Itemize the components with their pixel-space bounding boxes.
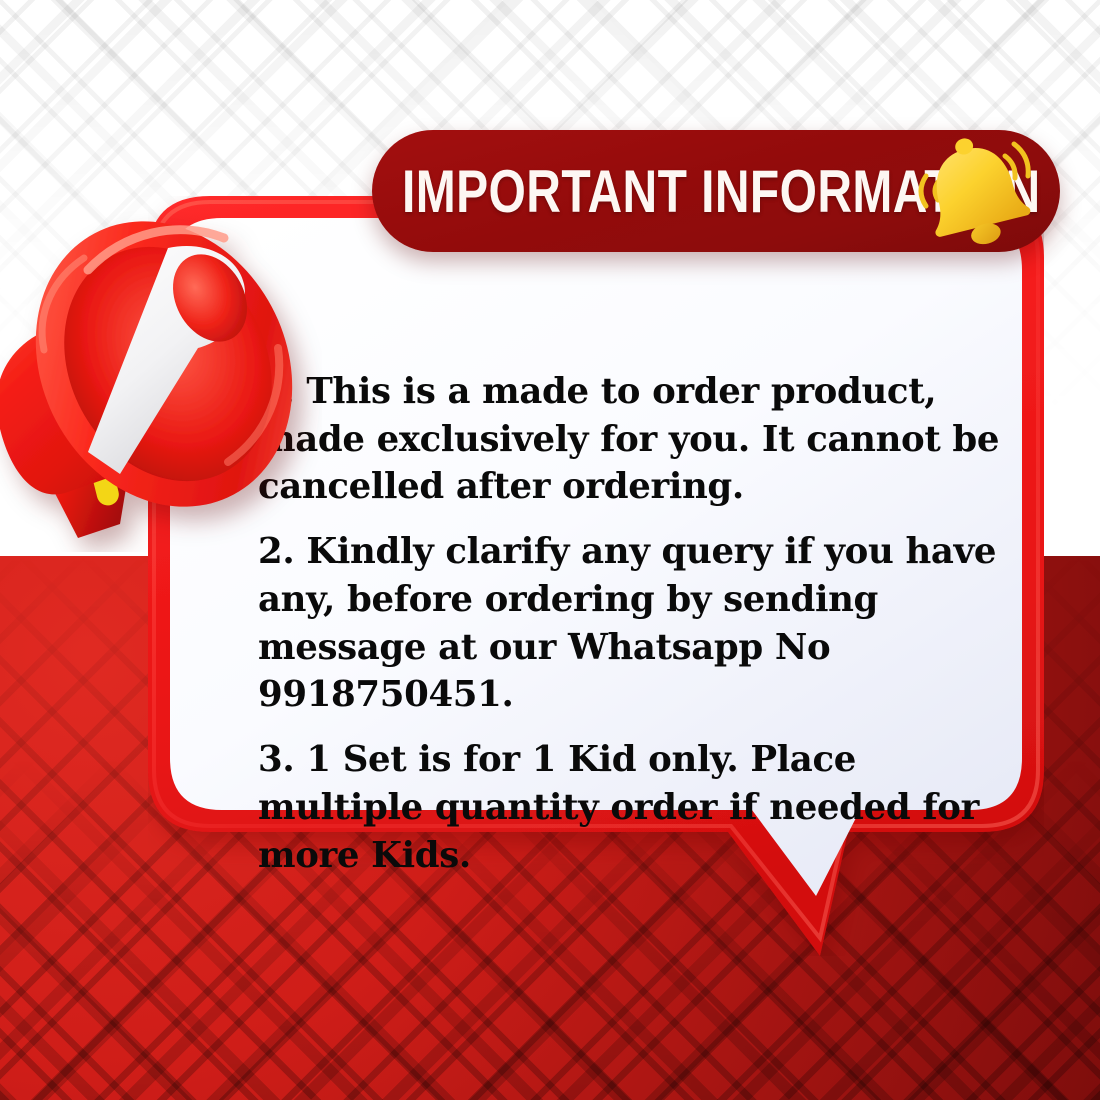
poster-canvas: 1. This is a made to order product, made… (0, 0, 1100, 1100)
list-item-note-3: 3. 1 Set is for 1 Kid only. Place multip… (258, 736, 1006, 879)
information-list: 1. This is a made to order product, made… (258, 368, 1006, 879)
header-banner: IMPORTANT INFORMATION (372, 130, 1060, 252)
list-item-note-2: 2. Kindly clarify any query if you have … (258, 528, 1006, 719)
list-item-note-1: 1. This is a made to order product, made… (258, 368, 1006, 511)
megaphone-icon (0, 152, 322, 552)
bell-icon (910, 132, 1038, 250)
